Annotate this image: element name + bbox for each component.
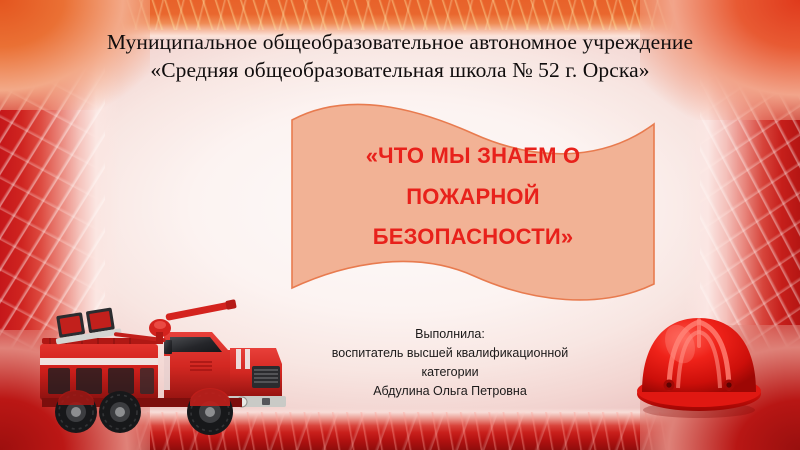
- author-role-line-2: категории: [300, 363, 600, 382]
- fire-truck-image: [14, 292, 294, 442]
- title-ribbon-banner: «ЧТО МЫ ЗНАЕМ О ПОЖАРНОЙ БЕЗОПАСНОСТИ»: [288, 98, 658, 310]
- fire-truck-graphic: [14, 292, 294, 442]
- fire-helmet-graphic: [628, 306, 770, 424]
- presentation-slide: Муниципальное общеобразовательное автоно…: [0, 0, 800, 450]
- fire-helmet-image: [628, 306, 770, 424]
- author-label: Выполнила:: [300, 325, 600, 344]
- title-line-1: «ЧТО МЫ ЗНАЕМ О: [288, 136, 658, 177]
- author-name: Абдулина Ольга Петровна: [300, 382, 600, 401]
- title-line-3: БЕЗОПАСНОСТИ»: [288, 217, 658, 258]
- school-name-line-2: «Средняя общеобразовательная школа № 52 …: [50, 56, 750, 84]
- author-role-line-1: воспитатель высшей квалификационной: [300, 344, 600, 363]
- presentation-title: «ЧТО МЫ ЗНАЕМ О ПОЖАРНОЙ БЕЗОПАСНОСТИ»: [288, 136, 658, 258]
- title-line-2: ПОЖАРНОЙ: [288, 177, 658, 218]
- school-name-line-1: Муниципальное общеобразовательное автоно…: [50, 28, 750, 56]
- school-name-heading: Муниципальное общеобразовательное автоно…: [50, 28, 750, 85]
- author-credits: Выполнила: воспитатель высшей квалификац…: [300, 325, 600, 401]
